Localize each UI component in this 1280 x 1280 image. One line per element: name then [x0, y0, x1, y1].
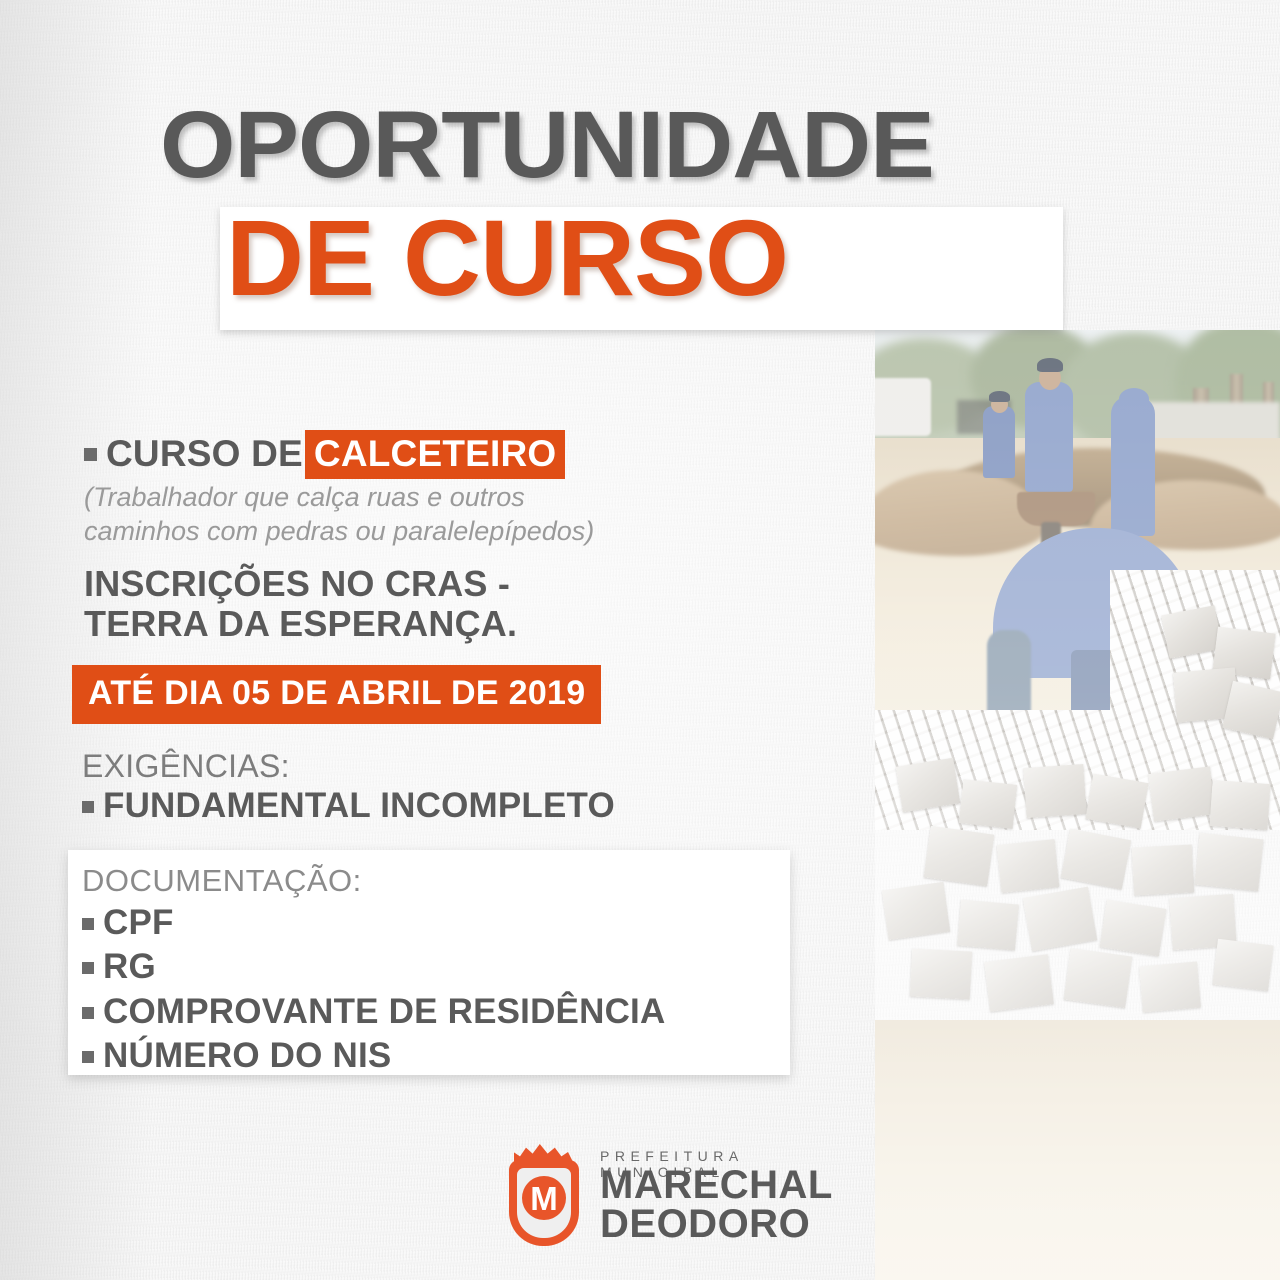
bullet-square-icon [82, 962, 94, 974]
requirements-item: FUNDAMENTAL INCOMPLETO [82, 786, 615, 826]
deadline-banner: ATÉ DIA 05 DE ABRIL DE 2019 [72, 665, 601, 724]
list-item: RG [82, 945, 665, 989]
photo-loose-stone [1061, 829, 1131, 890]
city-hall-logo: M PREFEITURA MUNICIPAL MARECHAL DEODORO [505, 1140, 805, 1250]
logo-city-name: MARECHAL DEODORO [600, 1166, 833, 1244]
photo-worker-cap [989, 391, 1010, 402]
bullet-square-icon [82, 801, 94, 813]
photo-loose-stone [1064, 948, 1133, 1008]
documentation-item-label: RG [103, 947, 156, 986]
page-title-primary: OPORTUNIDADE [160, 98, 934, 193]
course-name-highlight: CALCETEIRO [305, 430, 566, 479]
photo-foreground-sand [875, 1020, 1280, 1280]
photo-loose-stone [1132, 844, 1194, 895]
photo-loose-stone [984, 954, 1054, 1011]
photo-loose-stone [1209, 780, 1270, 830]
logo-monogram: M [522, 1176, 566, 1220]
photo-loose-stone [1212, 939, 1273, 991]
photo-loose-stone [1139, 962, 1201, 1013]
photo-loose-stone [1085, 773, 1148, 828]
course-prefix-label: CURSO DE [106, 433, 303, 474]
requirements-label: EXIGÊNCIAS: [82, 748, 290, 785]
poster-canvas: OPORTUNIDADE DE CURSO CURSO DECALCETEIRO… [0, 0, 1280, 1280]
page-title-secondary: DE CURSO [226, 204, 788, 312]
photo-loose-stone [1023, 764, 1086, 818]
bullet-square-icon [82, 918, 94, 930]
photo-worker-left [983, 406, 1015, 478]
photo-wheelbarrow [1017, 492, 1095, 526]
bullet-square-icon [84, 448, 97, 461]
inscriptions-location: INSCRIÇÕES NO CRAS - TERRA DA ESPERANÇA. [84, 564, 517, 645]
photo-loose-stone [882, 882, 950, 940]
documentation-label: DOCUMENTAÇÃO: [82, 863, 362, 899]
photo-loose-stone [957, 900, 1019, 951]
photo-loose-stone [1194, 833, 1263, 891]
photo-loose-stone [1023, 887, 1097, 952]
documentation-list: CPF RG COMPROVANTE DE RESIDÊNCIA NÚMERO … [82, 901, 665, 1079]
list-item: COMPROVANTE DE RESIDÊNCIA [82, 990, 665, 1034]
bullet-square-icon [82, 1007, 94, 1019]
list-item: CPF [82, 901, 665, 945]
course-line: CURSO DECALCETEIRO [84, 433, 565, 475]
documentation-item-label: CPF [103, 903, 174, 942]
photo-scene [875, 330, 1280, 1280]
photo-loose-stone [1148, 766, 1215, 821]
list-item: NÚMERO DO NIS [82, 1034, 665, 1078]
photo-loose-stone [910, 948, 972, 999]
photo-parked-vehicle [875, 378, 931, 436]
photo-loose-stone [896, 758, 960, 813]
photo-loose-stone [924, 826, 995, 886]
documentation-item-label: NÚMERO DO NIS [103, 1036, 391, 1075]
photo-loose-stone [959, 779, 1017, 828]
bullet-square-icon [82, 1051, 94, 1063]
shield-crown-icon: M [505, 1144, 583, 1248]
photo-worker-hood [1119, 388, 1149, 410]
photo-cobblestone-workers [875, 330, 1280, 1280]
photo-worker-standing [1025, 382, 1073, 492]
documentation-item-label: COMPROVANTE DE RESIDÊNCIA [103, 992, 665, 1031]
course-description: (Trabalhador que calça ruas e outros cam… [84, 481, 594, 549]
photo-worker-cap [1037, 358, 1063, 372]
photo-loose-stone [997, 839, 1060, 893]
photo-worker-right [1111, 396, 1155, 536]
requirements-item-label: FUNDAMENTAL INCOMPLETO [103, 786, 615, 825]
photo-loose-stone [1100, 900, 1167, 957]
